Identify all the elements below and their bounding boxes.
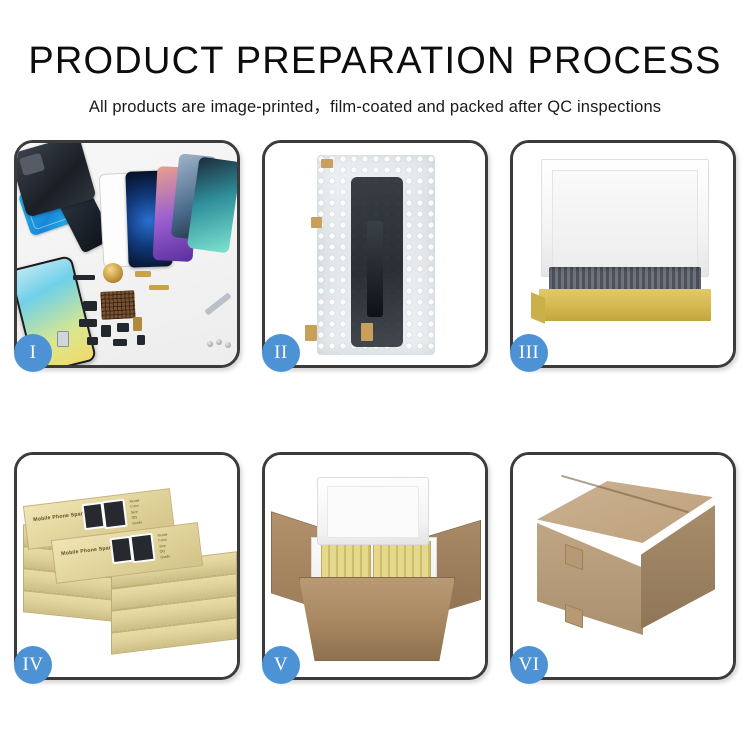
process-step-card-3[interactable]: III: [510, 140, 736, 368]
part-icon: [133, 317, 142, 331]
part-icon: [117, 323, 129, 332]
process-step-card-6[interactable]: VI: [510, 452, 736, 680]
step-5-image: [265, 455, 485, 677]
flex-cable-icon: [367, 221, 383, 317]
part-icon: [137, 335, 145, 345]
step-badge-3: III: [510, 334, 548, 372]
tape-icon: [305, 325, 317, 341]
step-3-image: [513, 143, 733, 365]
step-badge-6: VI: [510, 646, 548, 684]
tape-icon: [321, 159, 333, 168]
step-badge-4: IV: [14, 646, 52, 684]
logic-board-icon: [100, 290, 135, 320]
tweezers-icon: [204, 292, 231, 315]
page-subtitle: All products are image-printed，film-coat…: [0, 82, 750, 117]
foam-case-lid-icon: [317, 477, 429, 545]
part-icon: [113, 339, 127, 346]
screws-icon: [207, 339, 233, 349]
step-badge-2: II: [262, 334, 300, 372]
part-icon: [83, 301, 97, 311]
tape-icon: [361, 323, 373, 341]
part-icon: [73, 275, 95, 280]
bubble-wrap-bag-icon: [317, 155, 435, 355]
step-4-image: Mobile Phone Spare Parts Mobile Phone Sp…: [17, 455, 237, 677]
part-icon: [87, 337, 98, 345]
kraft-box-base-icon: [539, 289, 711, 321]
part-icon: [79, 319, 97, 327]
step-badge-1: I: [14, 334, 52, 372]
box-stack: Mobile Phone Spare Parts Mobile Phone Sp…: [23, 479, 233, 665]
speaker-coil-icon: [103, 263, 123, 283]
sim-tray-icon: [57, 331, 69, 347]
foam-lid-icon: [541, 159, 709, 277]
part-icon: [135, 271, 151, 277]
process-step-card-1[interactable]: I: [14, 140, 240, 368]
step-1-image: [17, 143, 237, 365]
box-artwork-swatch: [101, 499, 127, 530]
process-step-card-5[interactable]: V: [262, 452, 488, 680]
step-badge-5: V: [262, 646, 300, 684]
page-header: PRODUCT PREPARATION PROCESS All products…: [0, 0, 750, 117]
tape-icon: [311, 217, 322, 228]
step-6-image: [513, 455, 733, 677]
flex-cable-icon: [149, 285, 169, 290]
part-icon: [101, 325, 111, 337]
carton-left-face-icon: [537, 523, 643, 635]
page-title: PRODUCT PREPARATION PROCESS: [0, 0, 750, 82]
process-step-card-2[interactable]: II: [262, 140, 488, 368]
process-step-card-4[interactable]: Mobile Phone Spare Parts Mobile Phone Sp…: [14, 452, 240, 680]
retail-boxes-row-icon: [373, 541, 431, 583]
shipping-carton-open-icon: [299, 577, 455, 661]
step-2-image: [265, 143, 485, 365]
process-step-grid: I II III: [14, 140, 736, 680]
box-artwork-swatch: [129, 533, 155, 564]
